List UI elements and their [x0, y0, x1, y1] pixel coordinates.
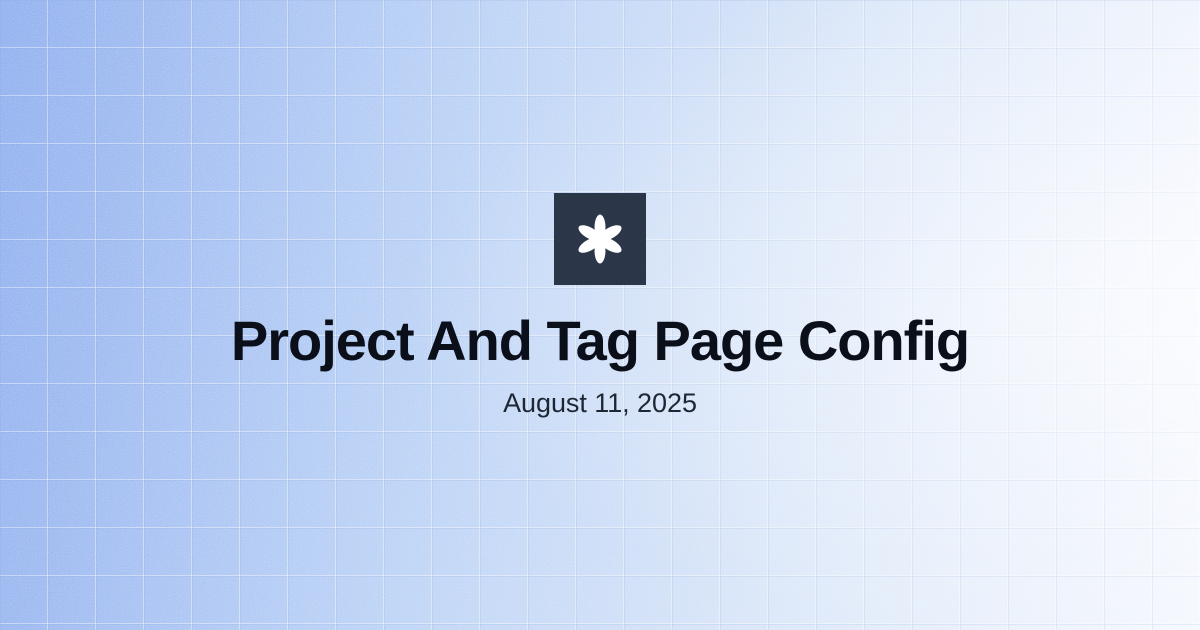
cover-canvas: Project And Tag Page Config August 11, 2… — [0, 0, 1200, 630]
cover-content: Project And Tag Page Config August 11, 2… — [0, 0, 1200, 630]
flower-asterisk-icon — [574, 213, 626, 265]
page-date: August 11, 2025 — [503, 387, 697, 419]
page-title: Project And Tag Page Config — [231, 311, 969, 371]
logo-badge — [554, 193, 646, 285]
